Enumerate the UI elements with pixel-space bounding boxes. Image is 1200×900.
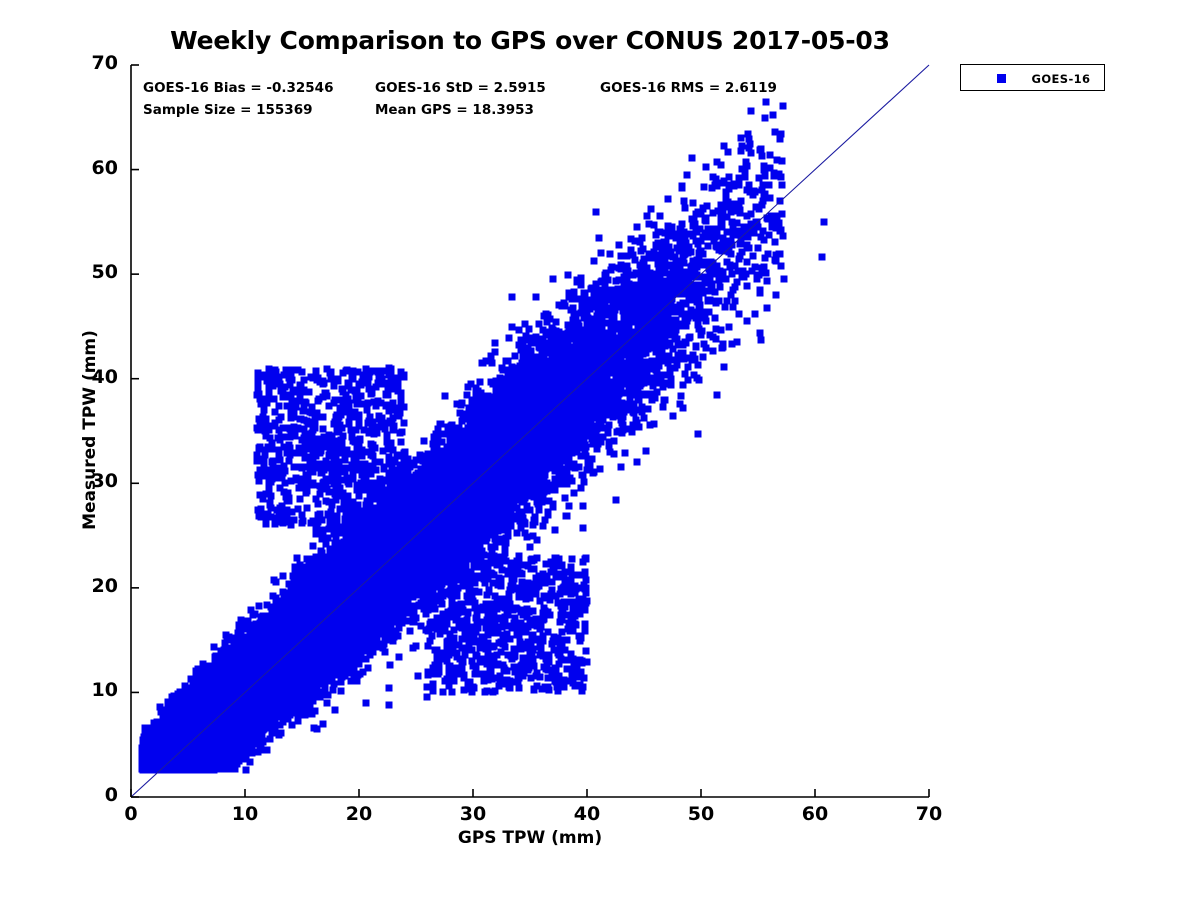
scatter-point xyxy=(565,272,572,279)
scatter-point xyxy=(550,276,557,283)
scatter-point xyxy=(622,450,629,457)
scatter-points-layer xyxy=(139,99,828,774)
scatter-point xyxy=(331,681,338,688)
figure-canvas: Weekly Comparison to GPS over CONUS 2017… xyxy=(0,0,1200,900)
scatter-point xyxy=(770,112,777,119)
scatter-point xyxy=(533,294,540,301)
scatter-point xyxy=(256,603,263,610)
scatter-plot-area xyxy=(0,0,1200,900)
scatter-point xyxy=(744,259,751,266)
scatter-point xyxy=(678,393,685,400)
scatter-point xyxy=(780,233,787,240)
scatter-point xyxy=(324,700,331,707)
scatter-point xyxy=(489,360,496,367)
scatter-point xyxy=(703,318,710,325)
scatter-point xyxy=(292,564,299,571)
scatter-point xyxy=(723,276,730,283)
scatter-point xyxy=(407,628,414,635)
scatter-point xyxy=(580,503,587,510)
scatter-point xyxy=(580,525,587,532)
scatter-point xyxy=(756,175,763,182)
scatter-point xyxy=(553,319,560,326)
